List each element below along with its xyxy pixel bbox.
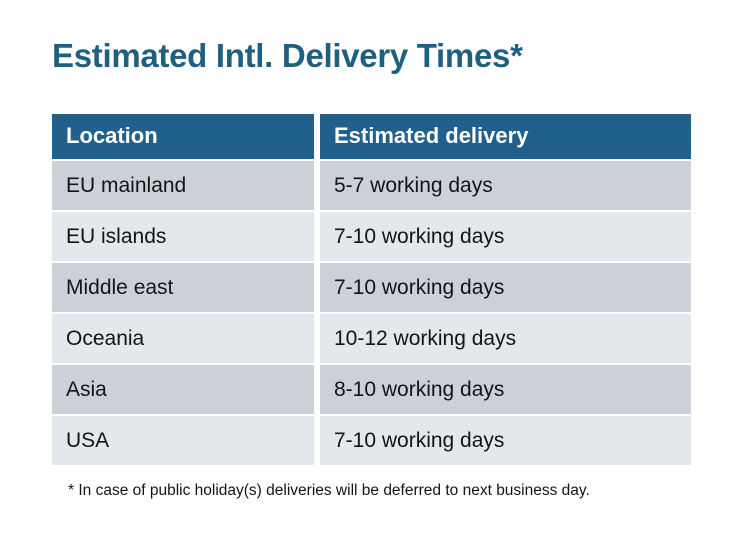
cell-location: Asia xyxy=(52,365,314,414)
cell-delivery: 8-10 working days xyxy=(320,365,691,414)
table-row: Middle east 7-10 working days xyxy=(52,263,691,312)
cell-location: Middle east xyxy=(52,263,314,312)
cell-delivery: 7-10 working days xyxy=(320,416,691,465)
table-row: Oceania 10-12 working days xyxy=(52,314,691,363)
table-row: Asia 8-10 working days xyxy=(52,365,691,414)
column-header-estimated-delivery: Estimated delivery xyxy=(320,114,691,159)
cell-location: EU islands xyxy=(52,212,314,261)
table-row: EU islands 7-10 working days xyxy=(52,212,691,261)
cell-location: Oceania xyxy=(52,314,314,363)
delivery-times-page: Estimated Intl. Delivery Times* Location… xyxy=(0,0,745,536)
delivery-times-table: Location Estimated delivery EU mainland … xyxy=(52,114,691,467)
page-title: Estimated Intl. Delivery Times* xyxy=(52,38,523,74)
footnote-text: * In case of public holiday(s) deliverie… xyxy=(68,481,590,501)
cell-delivery: 10-12 working days xyxy=(320,314,691,363)
table-row: EU mainland 5-7 working days xyxy=(52,161,691,210)
cell-delivery: 7-10 working days xyxy=(320,263,691,312)
table-header-row: Location Estimated delivery xyxy=(52,114,691,159)
column-header-location: Location xyxy=(52,114,314,159)
cell-location: USA xyxy=(52,416,314,465)
cell-delivery: 7-10 working days xyxy=(320,212,691,261)
cell-delivery: 5-7 working days xyxy=(320,161,691,210)
cell-location: EU mainland xyxy=(52,161,314,210)
table-row: USA 7-10 working days xyxy=(52,416,691,465)
